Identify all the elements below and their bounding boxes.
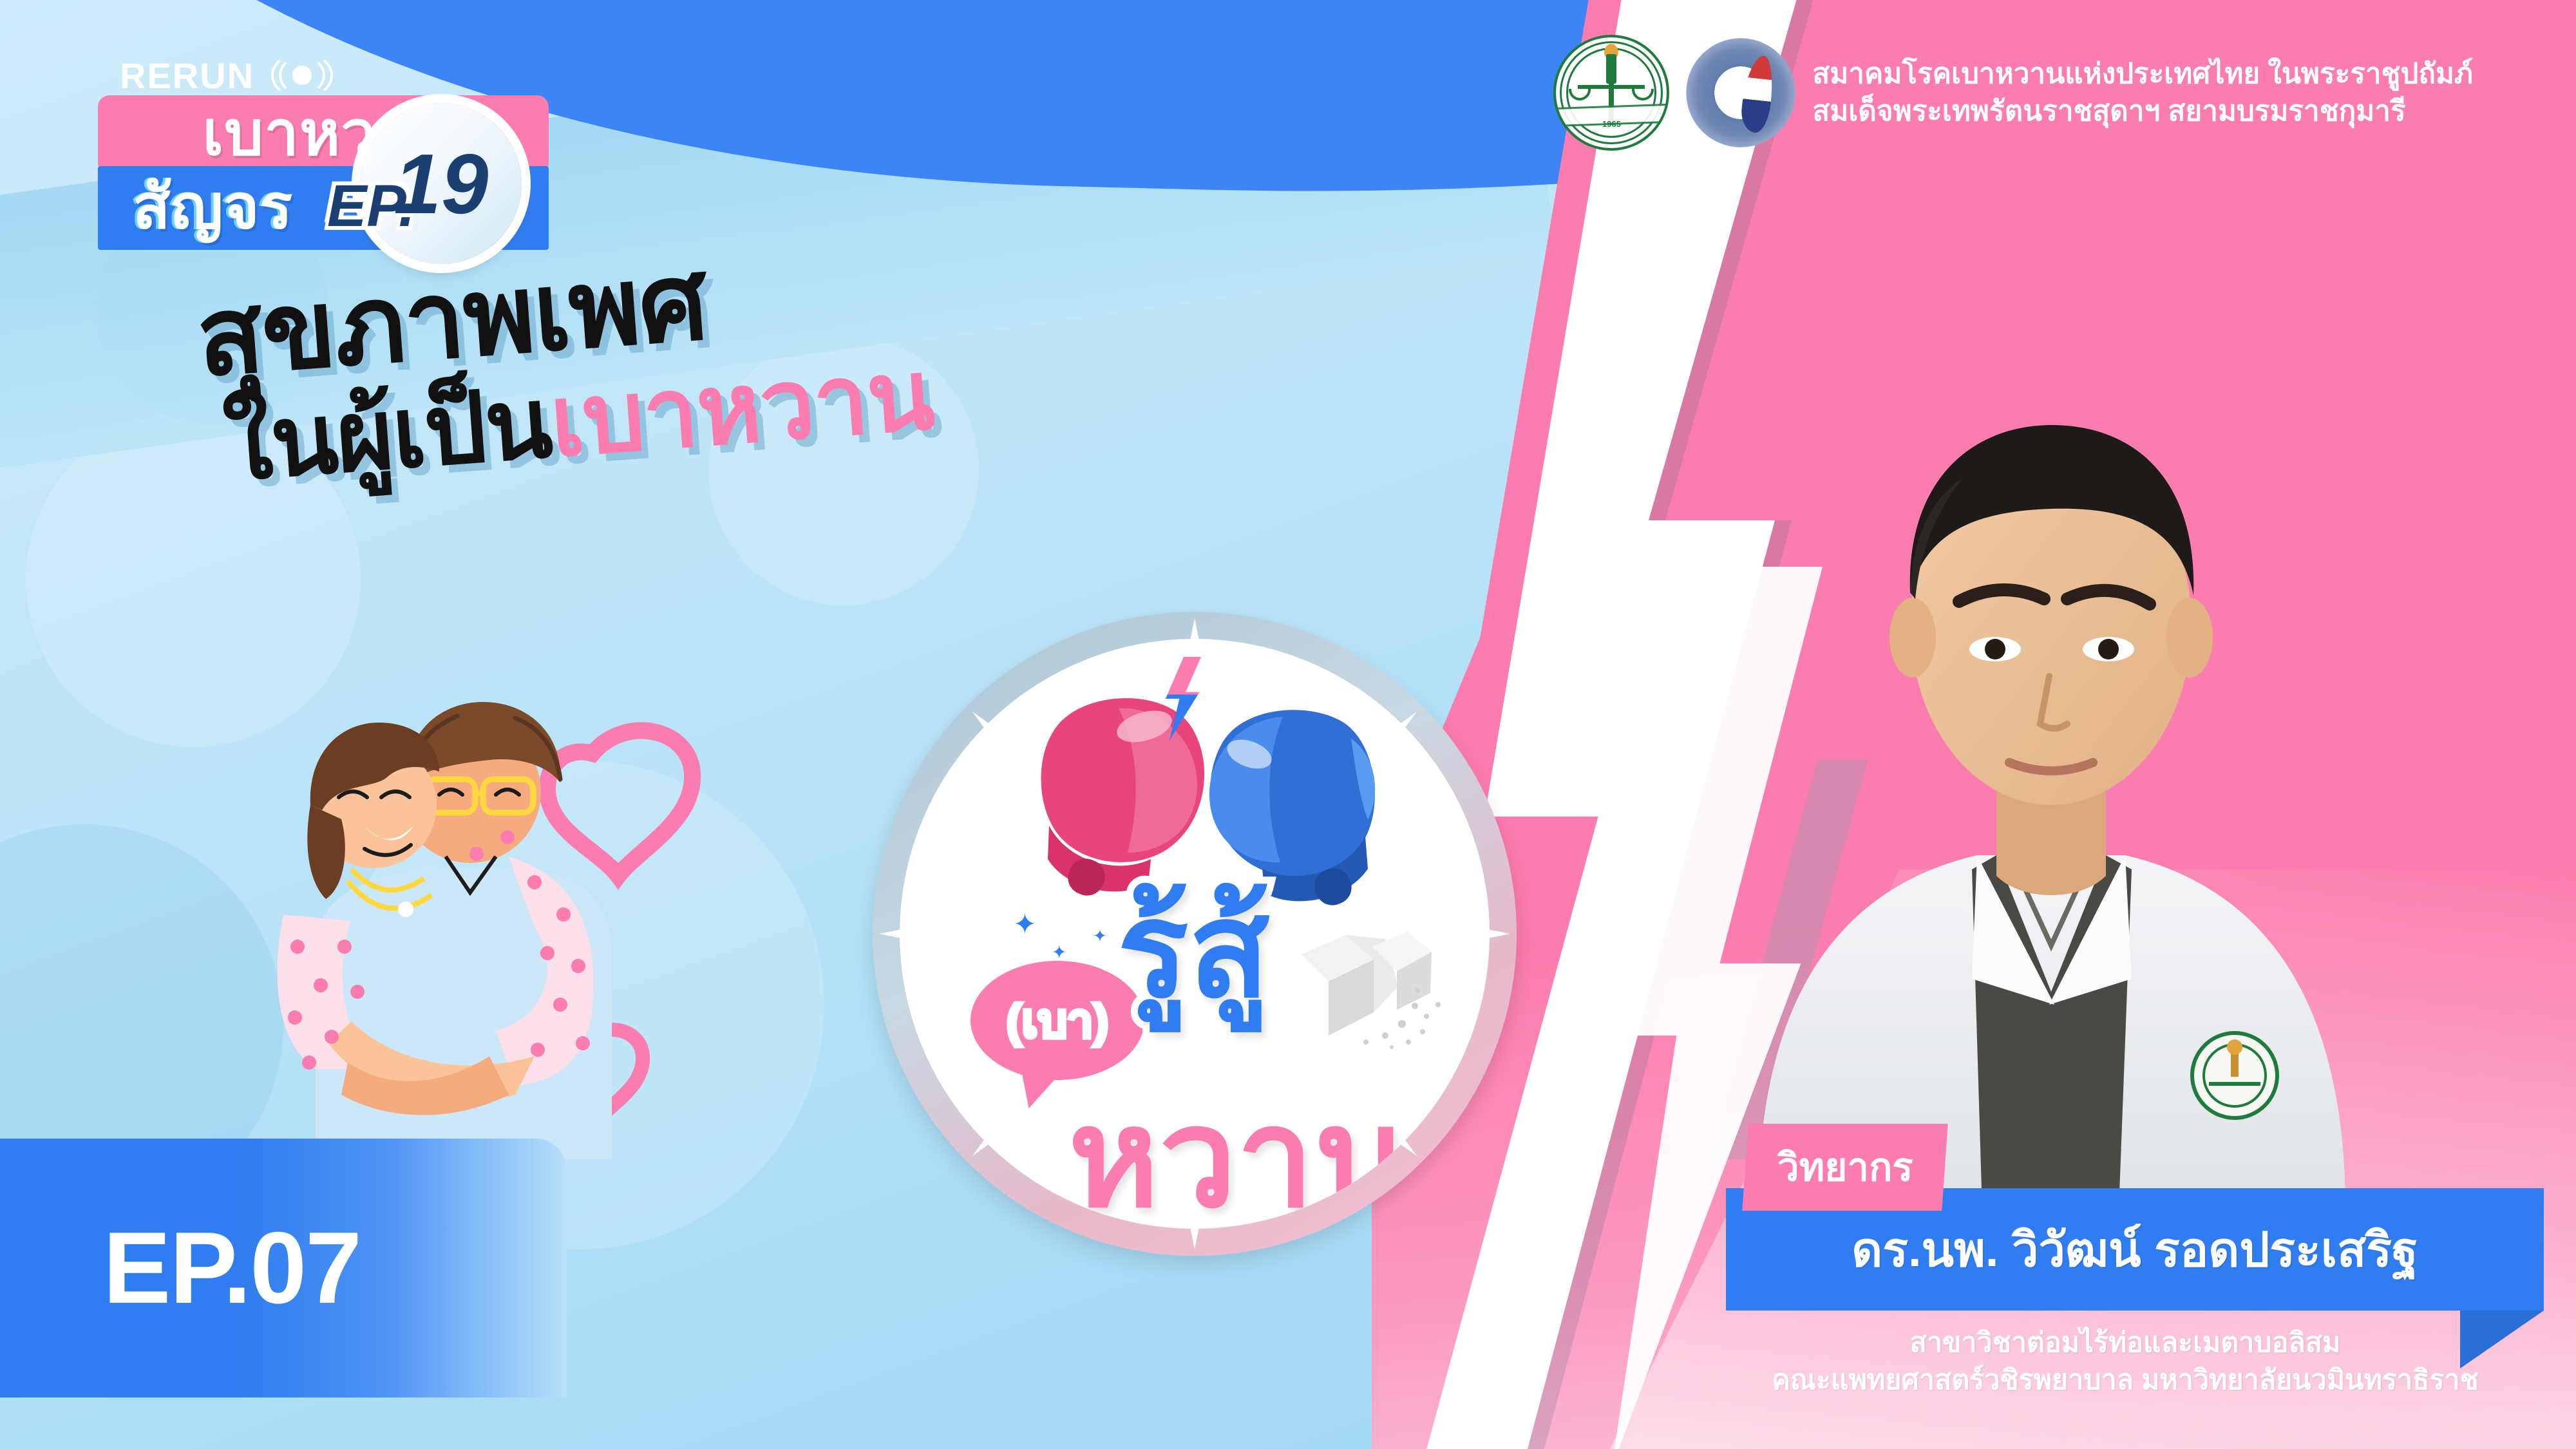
- speaker-affiliation: สาขาวิชาต่อมไร้ท่อและเมตาบอลิสม คณะแพทยศ…: [1674, 1324, 2576, 1399]
- association-name: สมาคมโรคเบาหวานแห่งประเทศไทย ในพระราชูปถ…: [1812, 55, 2473, 130]
- program-logo-circle: ✦ ✦ ✦ (เบา) รู้สู้ หวาน: [873, 612, 1517, 1256]
- episode-number-label: 19: [361, 103, 522, 264]
- speaker-affiliation-line2: คณะแพทยศาสตร์วชิรพยาบาล มหาวิทยาลัยนวมิน…: [1674, 1361, 2576, 1399]
- seal-year: 1965: [1556, 119, 1667, 129]
- logo-word-top: รู้สู้: [1117, 884, 1269, 1016]
- diabetes-association-seal-icon: 1965: [1553, 35, 1669, 151]
- poster-canvas: RERUN เบาหวาน สัญจร EP. 19 1965 สมาคมโรค…: [0, 0, 2576, 1449]
- sparkle-icon: ✦: [1052, 942, 1066, 963]
- sparkle-icon: ✦: [1013, 908, 1037, 941]
- couple-hugging-illustration: [213, 644, 766, 1159]
- sparkle-icon: ✦: [1093, 926, 1107, 946]
- association-block: 1965 สมาคมโรคเบาหวานแห่งประเทศไทย ในพระร…: [1553, 35, 2473, 151]
- speaker-role-badge: วิทยากร: [1742, 1124, 1947, 1211]
- episode-badge-label: EP.07: [103, 1210, 361, 1327]
- association-name-line2: สมเด็จพระเทพรัตนราชสุดาฯ สยามบรมราชกุมาร…: [1812, 93, 2473, 130]
- logo-word-bottom: หวาน: [1068, 1090, 1408, 1227]
- sugar-cube-icon: [1289, 909, 1450, 1064]
- boxing-glove-pink-icon: [1028, 690, 1215, 903]
- diabetes-thailand-ring-icon: [1686, 38, 1795, 147]
- speaker-photo: [1719, 232, 2383, 1211]
- episode-badge: EP.07: [0, 1139, 567, 1397]
- association-name-line1: สมาคมโรคเบาหวานแห่งประเทศไทย ในพระราชูปถ…: [1812, 55, 2473, 93]
- logo-content: ✦ ✦ ✦ (เบา) รู้สู้ หวาน: [900, 639, 1490, 1229]
- speaker-affiliation-line1: สาขาวิชาต่อมไร้ท่อและเมตาบอลิสม: [1674, 1324, 2576, 1361]
- speaker-role-label: วิทยากร: [1777, 1137, 1913, 1198]
- speaker-name: ดร.นพ. วิวัฒน์ รอดประเสริฐ: [1851, 1211, 2418, 1287]
